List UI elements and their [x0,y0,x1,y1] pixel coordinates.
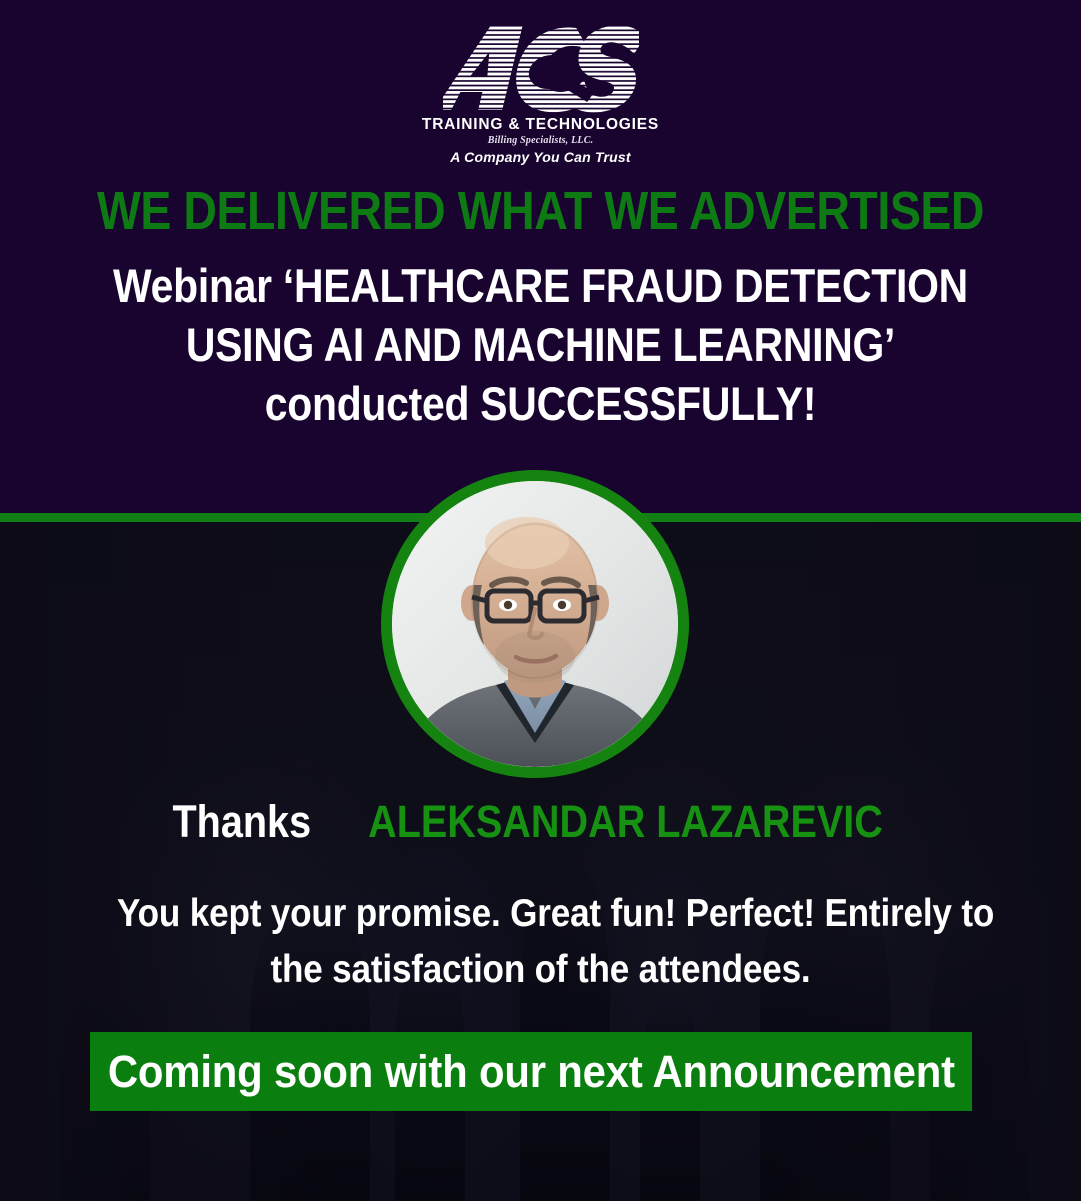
acs-logo-icon [443,22,639,114]
testimonial-line-1: You kept your promise. Great fun! Perfec… [117,886,964,942]
webinar-title-line-1: Webinar ‘HEALTHCARE FRAUD DETECTION [70,256,1010,315]
logo-tagline-primary: TRAINING & TECHNOLOGIES [0,116,1081,134]
company-logo: TRAINING & TECHNOLOGIES Billing Speciali… [0,22,1081,165]
avatar-image [392,481,678,767]
thanks-line: Thanks ALEKSANDAR LAZAREVIC [0,796,1081,848]
webinar-title-line-3: conducted SUCCESSFULLY! [70,374,1010,433]
thanks-label: Thanks [172,796,311,848]
speaker-name: ALEKSANDAR LAZAREVIC [368,796,883,848]
testimonial-quote: You kept your promise. Great fun! Perfec… [70,886,1011,998]
avatar [381,470,689,778]
logo-slogan: A Company You Can Trust [0,149,1081,165]
testimonial-line-2: the satisfaction of the attendees. [117,942,964,998]
announcement-banner-label: Coming soon with our next Announcement [108,1046,955,1098]
promotional-poster: TRAINING & TECHNOLOGIES Billing Speciali… [0,0,1081,1201]
announcement-banner[interactable]: Coming soon with our next Announcement [90,1032,972,1111]
webinar-title: Webinar ‘HEALTHCARE FRAUD DETECTION USIN… [0,256,1081,433]
speaker-portrait-icon [392,481,678,767]
logo-tagline-secondary: Billing Specialists, LLC. [0,135,1081,146]
webinar-title-line-2: USING AI AND MACHINE LEARNING’ [70,315,1010,374]
page-title: WE DELIVERED WHAT WE ADVERTISED [76,182,1006,240]
